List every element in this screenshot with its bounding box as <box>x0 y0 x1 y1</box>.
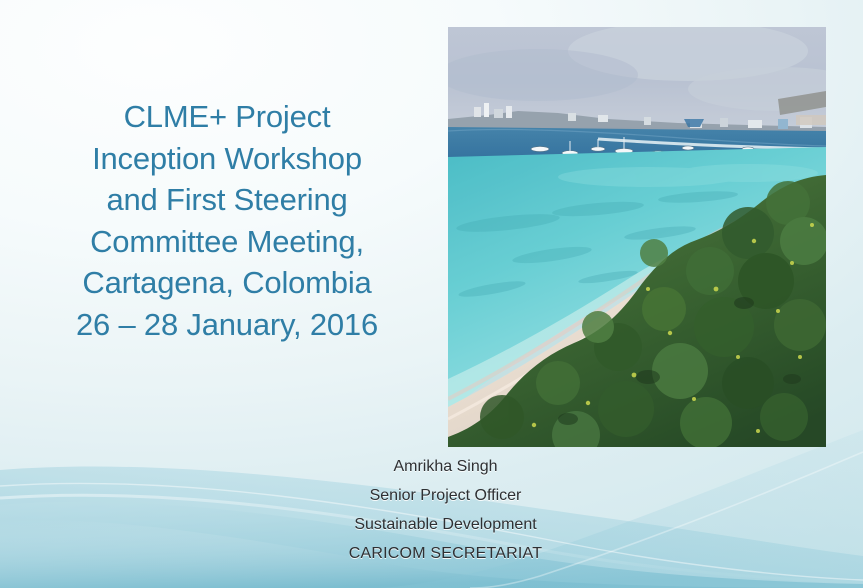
byline-organization: CARICOM SECRETARIAT <box>268 539 623 568</box>
byline-job-title: Senior Project Officer <box>268 481 623 510</box>
presentation-slide: CLME+ Project Inception Workshop and Fir… <box>0 0 863 588</box>
beach-photo-graphic <box>448 27 826 447</box>
slide-title: CLME+ Project Inception Workshop and Fir… <box>22 96 432 345</box>
presenter-byline: Amrikha Singh Senior Project Officer Sus… <box>268 452 623 568</box>
byline-department: Sustainable Development <box>268 510 623 539</box>
beach-photo <box>448 27 826 447</box>
byline-presenter-name: Amrikha Singh <box>268 452 623 481</box>
